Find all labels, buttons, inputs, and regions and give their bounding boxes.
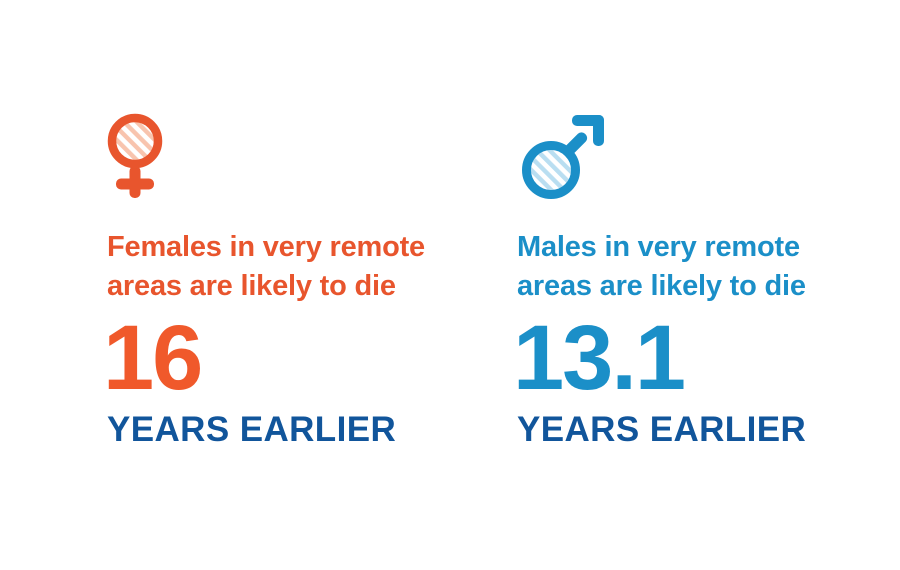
headline-male-line2: areas are likely to die <box>517 270 806 302</box>
male-gender-symbol-icon <box>517 108 627 204</box>
headline-male: Males in very remote areas are likely to… <box>517 228 847 305</box>
infographic-canvas: Females in very remote areas are likely … <box>0 0 900 570</box>
headline-male-line1: Males in very remote <box>517 231 800 263</box>
headline-female-line1: Females in very remote <box>107 231 425 263</box>
female-gender-symbol-icon <box>107 108 217 204</box>
value-female: 16 <box>103 312 201 404</box>
headline-female: Females in very remote areas are likely … <box>107 228 437 305</box>
headline-female-line2: areas are likely to die <box>107 270 396 302</box>
unit-label-female: YEARS EARLIER <box>107 412 396 447</box>
stat-column-female: Females in very remote areas are likely … <box>107 0 497 570</box>
value-male: 13.1 <box>513 312 684 404</box>
stat-column-male: Males in very remote areas are likely to… <box>517 0 900 570</box>
unit-label-male: YEARS EARLIER <box>517 412 806 447</box>
